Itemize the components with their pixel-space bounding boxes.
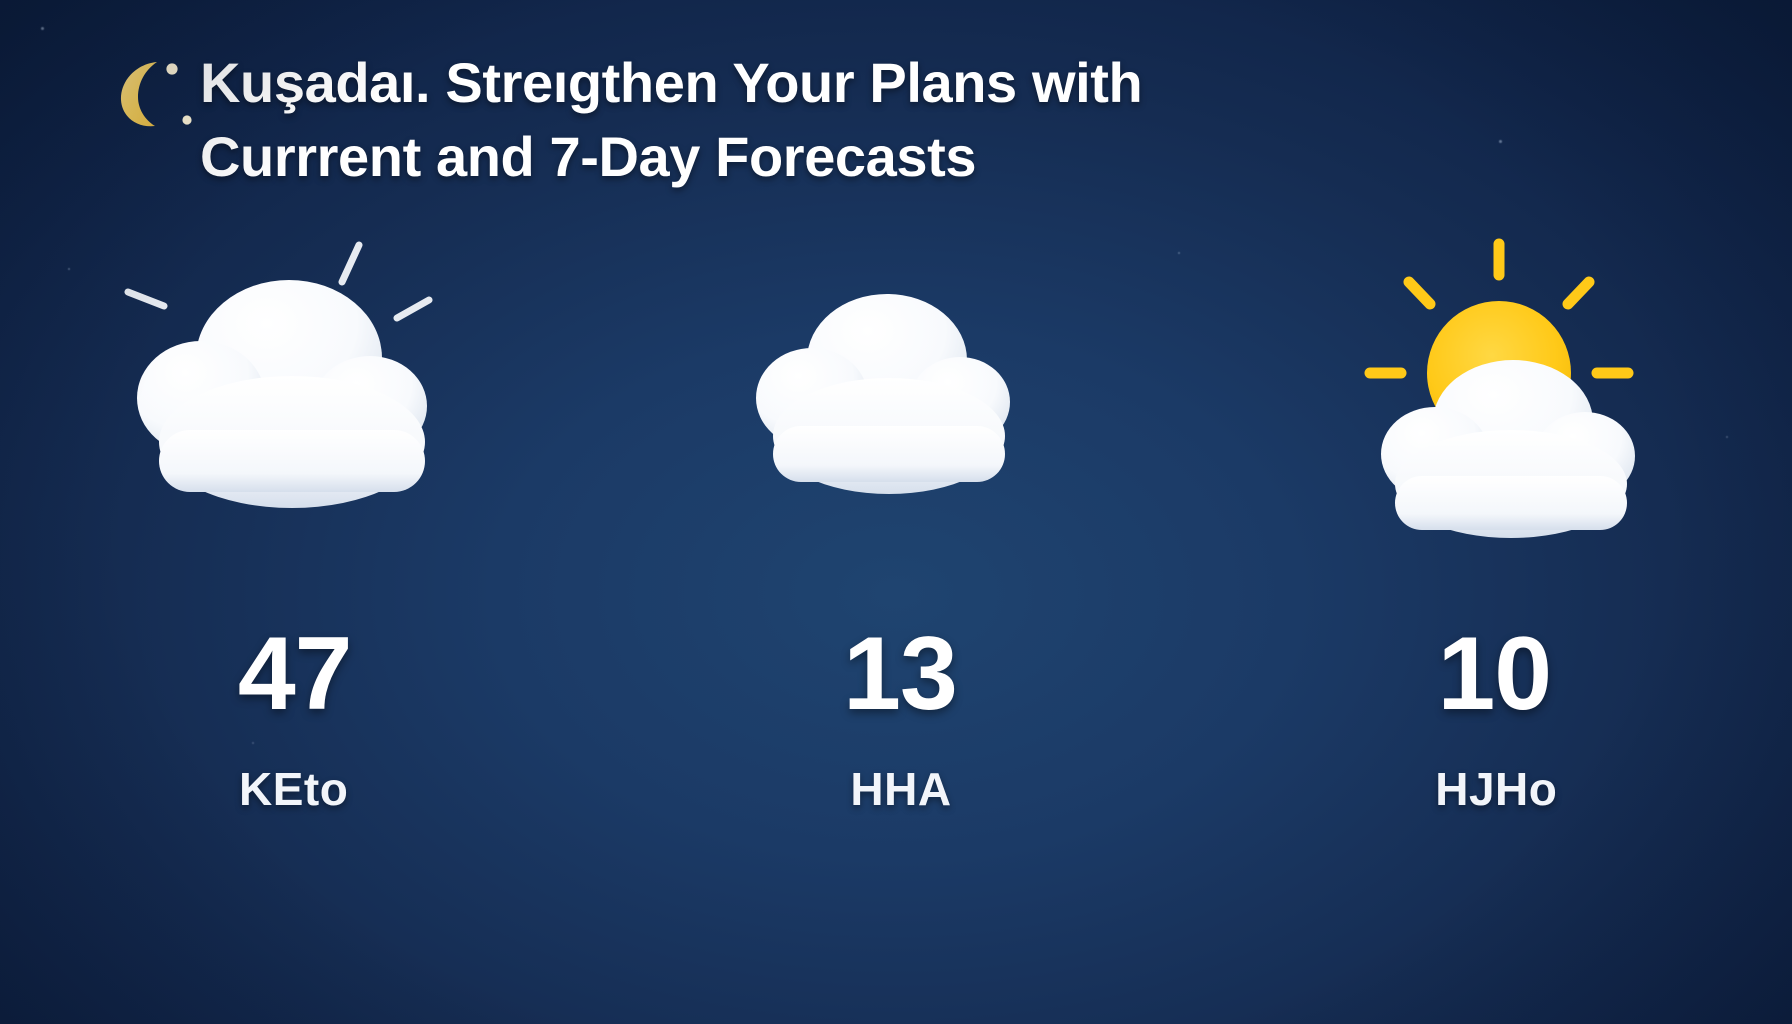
weather-scene: Kuşadaı. Streıgthen Your Plans with Curr… — [0, 0, 1792, 1024]
cloud-with-rays-icon — [106, 230, 476, 560]
forecast-temperature: 47 — [238, 622, 352, 726]
page-title-line-1: Kuşadaı. Streıgthen Your Plans with — [200, 46, 1142, 120]
page-title-line-2: Currrent and 7-Day Forecasts — [200, 120, 1142, 194]
star-decoration — [41, 27, 44, 30]
forecast-temperature: 13 — [843, 622, 957, 726]
forecast-card[interactable]: 13 HHA — [597, 230, 1194, 816]
crescent-moon-icon — [104, 54, 200, 132]
page-title: Kuşadaı. Streıgthen Your Plans with Curr… — [200, 42, 1142, 195]
page-heading: Kuşadaı. Streıgthen Your Plans with Curr… — [104, 42, 1554, 195]
forecast-label: KEto — [239, 762, 348, 816]
sun-behind-cloud-icon — [1317, 230, 1687, 560]
forecast-card[interactable]: 10 HJHo — [1195, 230, 1792, 816]
cloud-icon — [711, 230, 1081, 560]
forecast-temperature: 10 — [1437, 622, 1551, 726]
forecast-card[interactable]: 47 KEto — [0, 230, 597, 816]
forecast-row: 47 KEto — [0, 230, 1792, 816]
forecast-label: HJHo — [1435, 762, 1557, 816]
forecast-label: HHA — [850, 762, 951, 816]
